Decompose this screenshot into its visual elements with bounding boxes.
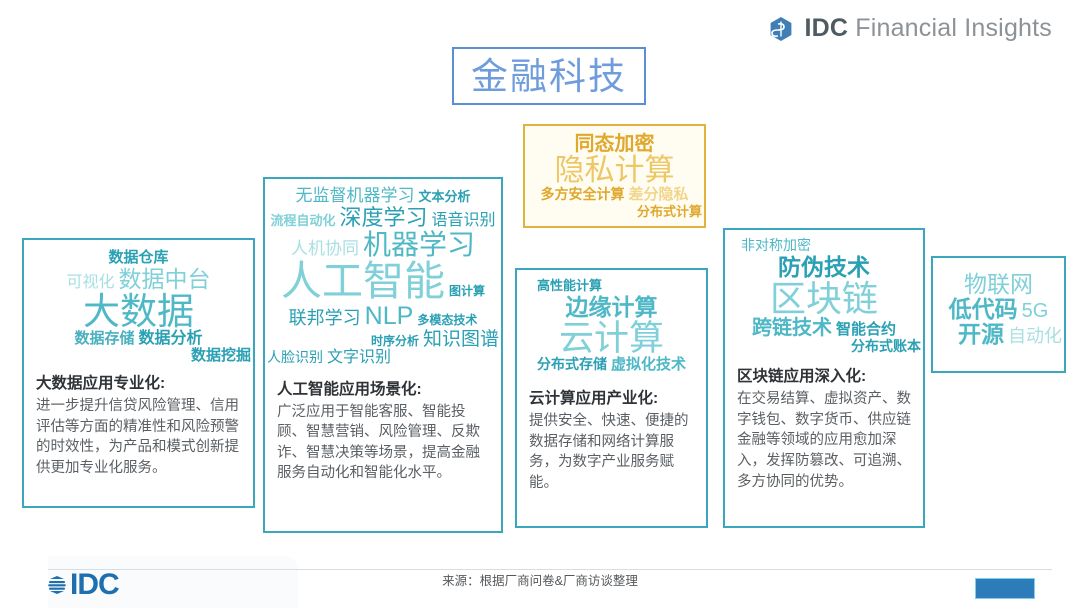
body-blockchain: 区块链应用深入化: 在交易结算、虚拟资产、数字钱包、数字货币、供应链金融等领域的… <box>725 366 923 492</box>
word-cloud-row: 无监督机器学习文本分析 <box>265 187 501 206</box>
body-title-big-data: 大数据应用专业化: <box>36 373 241 395</box>
word-cloud-term: 物联网 <box>964 272 1033 296</box>
word-cloud-term: 数据挖掘 <box>191 348 251 364</box>
word-cloud-term: 多模态技术 <box>417 314 477 327</box>
word-cloud-row: 联邦学习NLP多模态技术 <box>265 303 501 330</box>
word-cloud-term: 文本分析 <box>418 190 470 204</box>
word-cloud-row: 人工智能图计算 <box>265 260 501 303</box>
brand-strong: IDC <box>804 14 848 42</box>
card-blockchain: 非对称加密防伪技术区块链跨链技术智能合约分布式账本 区块链应用深入化: 在交易结… <box>723 228 925 528</box>
word-cloud-term: NLP <box>365 303 414 330</box>
word-cloud-term: 低代码 <box>949 297 1018 321</box>
word-cloud-term: 隐私计算 <box>555 155 675 187</box>
word-cloud-term: 边缘计算 <box>566 295 658 319</box>
corner-accent-block <box>975 578 1035 599</box>
word-cloud-row: 区块链 <box>725 280 923 318</box>
word-cloud-row: 低代码5G <box>933 297 1064 322</box>
body-title-ai: 人工智能应用场景化: <box>277 379 489 401</box>
word-cloud-term: 文字识别 <box>327 350 391 367</box>
word-cloud-row: 数据存储数据分析 <box>24 331 253 348</box>
word-cloud-term: 无监督机器学习 <box>295 187 414 205</box>
word-cloud-privacy: 同态加密隐私计算多方安全计算差分隐私分布式计算 <box>525 126 704 221</box>
word-cloud-term: 数据存储 <box>74 331 134 347</box>
page-title: 金融科技 <box>452 47 646 105</box>
card-cloud-computing: 高性能计算边缘计算云计算分布式存储虚拟化技术 云计算应用产业化: 提供安全、快速… <box>515 268 708 528</box>
word-cloud-big-data: 数据仓库可视化数据中台大数据数据存储数据分析数据挖掘 <box>24 240 253 365</box>
card-artificial-intelligence: 无监督机器学习文本分析流程自动化深度学习语音识别人机协同机器学习人工智能图计算联… <box>263 177 503 533</box>
word-cloud-row: 跨链技术智能合约 <box>725 318 923 339</box>
word-cloud-term: 5G <box>1022 301 1049 322</box>
word-cloud-term: 人工智能 <box>281 260 445 303</box>
body-title-blockchain: 区块链应用深入化: <box>737 366 911 388</box>
word-cloud-term: 智能合约 <box>836 322 896 338</box>
hexagon-idc-icon <box>768 16 794 42</box>
word-cloud-term: 分布式账本 <box>851 339 921 354</box>
header-brand: IDC Financial Insights <box>768 14 1052 43</box>
word-cloud-row: 人脸识别文字识别 <box>265 350 501 367</box>
word-cloud-term: 分布式计算 <box>637 205 702 219</box>
word-cloud-term: 同态加密 <box>575 134 655 155</box>
body-text-ai: 广泛应用于智能客服、智能投顾、智慧营销、风险管理、反欺诈、智慧决策等场景，提高金… <box>277 404 480 482</box>
word-cloud-row: 可视化数据中台 <box>24 267 253 292</box>
word-cloud-row: 开源自动化 <box>933 322 1064 347</box>
word-cloud-term: 分布式存储 <box>537 357 607 372</box>
card-internet-of-things: 物联网低代码5G开源自动化 <box>931 256 1066 373</box>
page-title-label: 金融科技 <box>471 58 627 95</box>
body-text-blockchain: 在交易结算、虚拟资产、数字钱包、数字货币、供应链金融等领域的应用愈加深入，发挥防… <box>737 391 911 489</box>
word-cloud-term: 时序分析 <box>371 335 419 348</box>
word-cloud-term: 非对称加密 <box>741 238 811 253</box>
word-cloud-term: 图计算 <box>449 285 485 298</box>
word-cloud-row: 数据仓库 <box>24 250 253 267</box>
word-cloud-row: 大数据 <box>24 292 253 331</box>
word-cloud-row: 物联网 <box>933 272 1064 297</box>
word-cloud-row: 同态加密 <box>525 134 704 155</box>
word-cloud-row: 高性能计算 <box>517 278 706 295</box>
body-ai: 人工智能应用场景化: 广泛应用于智能客服、智能投顾、智慧营销、风险管理、反欺诈、… <box>265 379 501 484</box>
word-cloud-term: 开源 <box>958 322 1004 346</box>
word-cloud-iot: 物联网低代码5G开源自动化 <box>933 258 1064 347</box>
word-cloud-term: 语音识别 <box>432 213 496 230</box>
brand-title: IDC Financial Insights <box>804 14 1052 43</box>
source-note: 来源：根据厂商问卷&厂商访谈整理 <box>0 570 1080 589</box>
word-cloud-cloud-computing: 高性能计算边缘计算云计算分布式存储虚拟化技术 <box>517 270 706 374</box>
word-cloud-term: 联邦学习 <box>289 309 361 328</box>
word-cloud-row: 边缘计算 <box>517 295 706 320</box>
card-privacy-computing: 同态加密隐私计算多方安全计算差分隐私分布式计算 <box>523 124 706 228</box>
word-cloud-term: 差分隐私 <box>628 187 688 203</box>
word-cloud-row: 防伪技术 <box>725 255 923 280</box>
word-cloud-term: 多方安全计算 <box>540 187 624 202</box>
word-cloud-row: 分布式存储虚拟化技术 <box>517 357 706 374</box>
word-cloud-row: 数据挖掘 <box>24 348 253 365</box>
word-cloud-term: 防伪技术 <box>778 255 870 279</box>
word-cloud-row: 非对称加密 <box>725 238 923 255</box>
word-cloud-term: 自动化 <box>1008 327 1062 346</box>
word-cloud-term: 知识图谱 <box>423 330 499 350</box>
body-title-cloud-computing: 云计算应用产业化: <box>529 388 694 410</box>
word-cloud-term: 云计算 <box>559 320 664 357</box>
word-cloud-term: 深度学习 <box>339 206 427 229</box>
word-cloud-term: 可视化 <box>66 275 114 292</box>
word-cloud-row: 隐私计算 <box>525 155 704 187</box>
word-cloud-term: 虚拟化技术 <box>611 357 686 373</box>
word-cloud-row: 分布式计算 <box>525 204 704 221</box>
word-cloud-ai: 无监督机器学习文本分析流程自动化深度学习语音识别人机协同机器学习人工智能图计算联… <box>265 179 501 367</box>
word-cloud-term: 数据分析 <box>139 331 203 348</box>
word-cloud-row: 时序分析知识图谱 <box>265 330 501 350</box>
body-text-big-data: 进一步提升信贷风险管理、信用评估等方面的精准性和风险预警的时效性，为产品和模式创… <box>36 398 239 476</box>
word-cloud-term: 人脸识别 <box>267 350 323 365</box>
word-cloud-row: 流程自动化深度学习语音识别 <box>265 206 501 230</box>
word-cloud-blockchain: 非对称加密防伪技术区块链跨链技术智能合约分布式账本 <box>725 230 923 356</box>
body-big-data: 大数据应用专业化: 进一步提升信贷风险管理、信用评估等方面的精准性和风险预警的时… <box>24 373 253 478</box>
word-cloud-term: 高性能计算 <box>537 279 602 293</box>
word-cloud-row: 人机协同机器学习 <box>265 230 501 260</box>
word-cloud-row: 多方安全计算差分隐私 <box>525 187 704 204</box>
word-cloud-row: 分布式账本 <box>725 339 923 356</box>
brand-light: Financial Insights <box>848 14 1052 42</box>
word-cloud-term: 区块链 <box>770 280 878 318</box>
body-cloud-computing: 云计算应用产业化: 提供安全、快速、便捷的数据存储和网络计算服务，为数字产业服务… <box>517 388 706 493</box>
word-cloud-term: 流程自动化 <box>270 214 335 228</box>
word-cloud-term: 数据仓库 <box>108 250 168 266</box>
card-big-data: 数据仓库可视化数据中台大数据数据存储数据分析数据挖掘 大数据应用专业化: 进一步… <box>22 238 255 508</box>
word-cloud-term: 大数据 <box>83 292 194 331</box>
word-cloud-term: 机器学习 <box>363 230 475 260</box>
body-text-cloud-computing: 提供安全、快速、便捷的数据存储和网络计算服务，为数字产业服务赋能。 <box>529 413 689 491</box>
word-cloud-row: 云计算 <box>517 320 706 357</box>
word-cloud-term: 人机协同 <box>291 240 359 258</box>
word-cloud-term: 跨链技术 <box>752 318 832 339</box>
word-cloud-term: 数据中台 <box>119 267 211 291</box>
